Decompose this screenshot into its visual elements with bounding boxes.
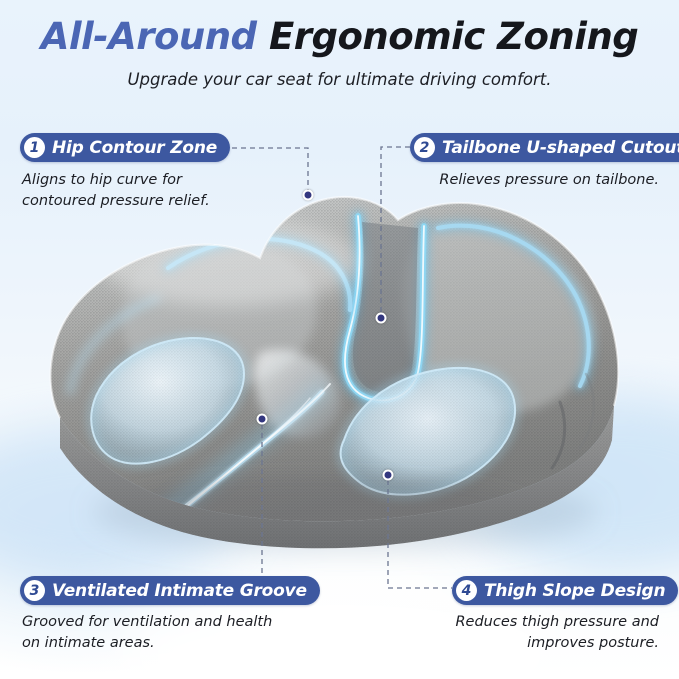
callout-number-4: 4	[456, 580, 477, 601]
callout-pill-4[interactable]: 4 Thigh Slope Design	[452, 576, 678, 605]
callout-pill-2[interactable]: 2 Tailbone U-shaped Cutout	[410, 133, 679, 162]
callout-description-4: Reduces thigh pressure and improves post…	[455, 612, 659, 653]
callout-label-4: Thigh Slope Design	[484, 581, 665, 601]
hotspot-dot-1[interactable]	[303, 190, 314, 201]
callout-label-1: Hip Contour Zone	[52, 138, 217, 158]
callout-description-3: Grooved for ventilation and health on in…	[22, 612, 272, 653]
callout-label-3: Ventilated Intimate Groove	[52, 581, 307, 601]
hotspot-dot-4[interactable]	[383, 470, 394, 481]
callout-label-2: Tailbone U-shaped Cutout	[442, 138, 679, 158]
callout-number-3: 3	[24, 580, 45, 601]
callout-description-2: Relieves pressure on tailbone.	[439, 170, 659, 191]
callout-pill-3[interactable]: 3 Ventilated Intimate Groove	[20, 576, 320, 605]
infographic-canvas: All-Around Ergonomic Zoning Upgrade your…	[0, 0, 679, 679]
callout-pill-1[interactable]: 1 Hip Contour Zone	[20, 133, 230, 162]
hotspot-dot-3[interactable]	[257, 414, 268, 425]
callout-description-1: Aligns to hip curve for contoured pressu…	[22, 170, 210, 211]
hotspot-dot-2[interactable]	[376, 313, 387, 324]
callout-number-1: 1	[24, 137, 45, 158]
callout-number-2: 2	[414, 137, 435, 158]
